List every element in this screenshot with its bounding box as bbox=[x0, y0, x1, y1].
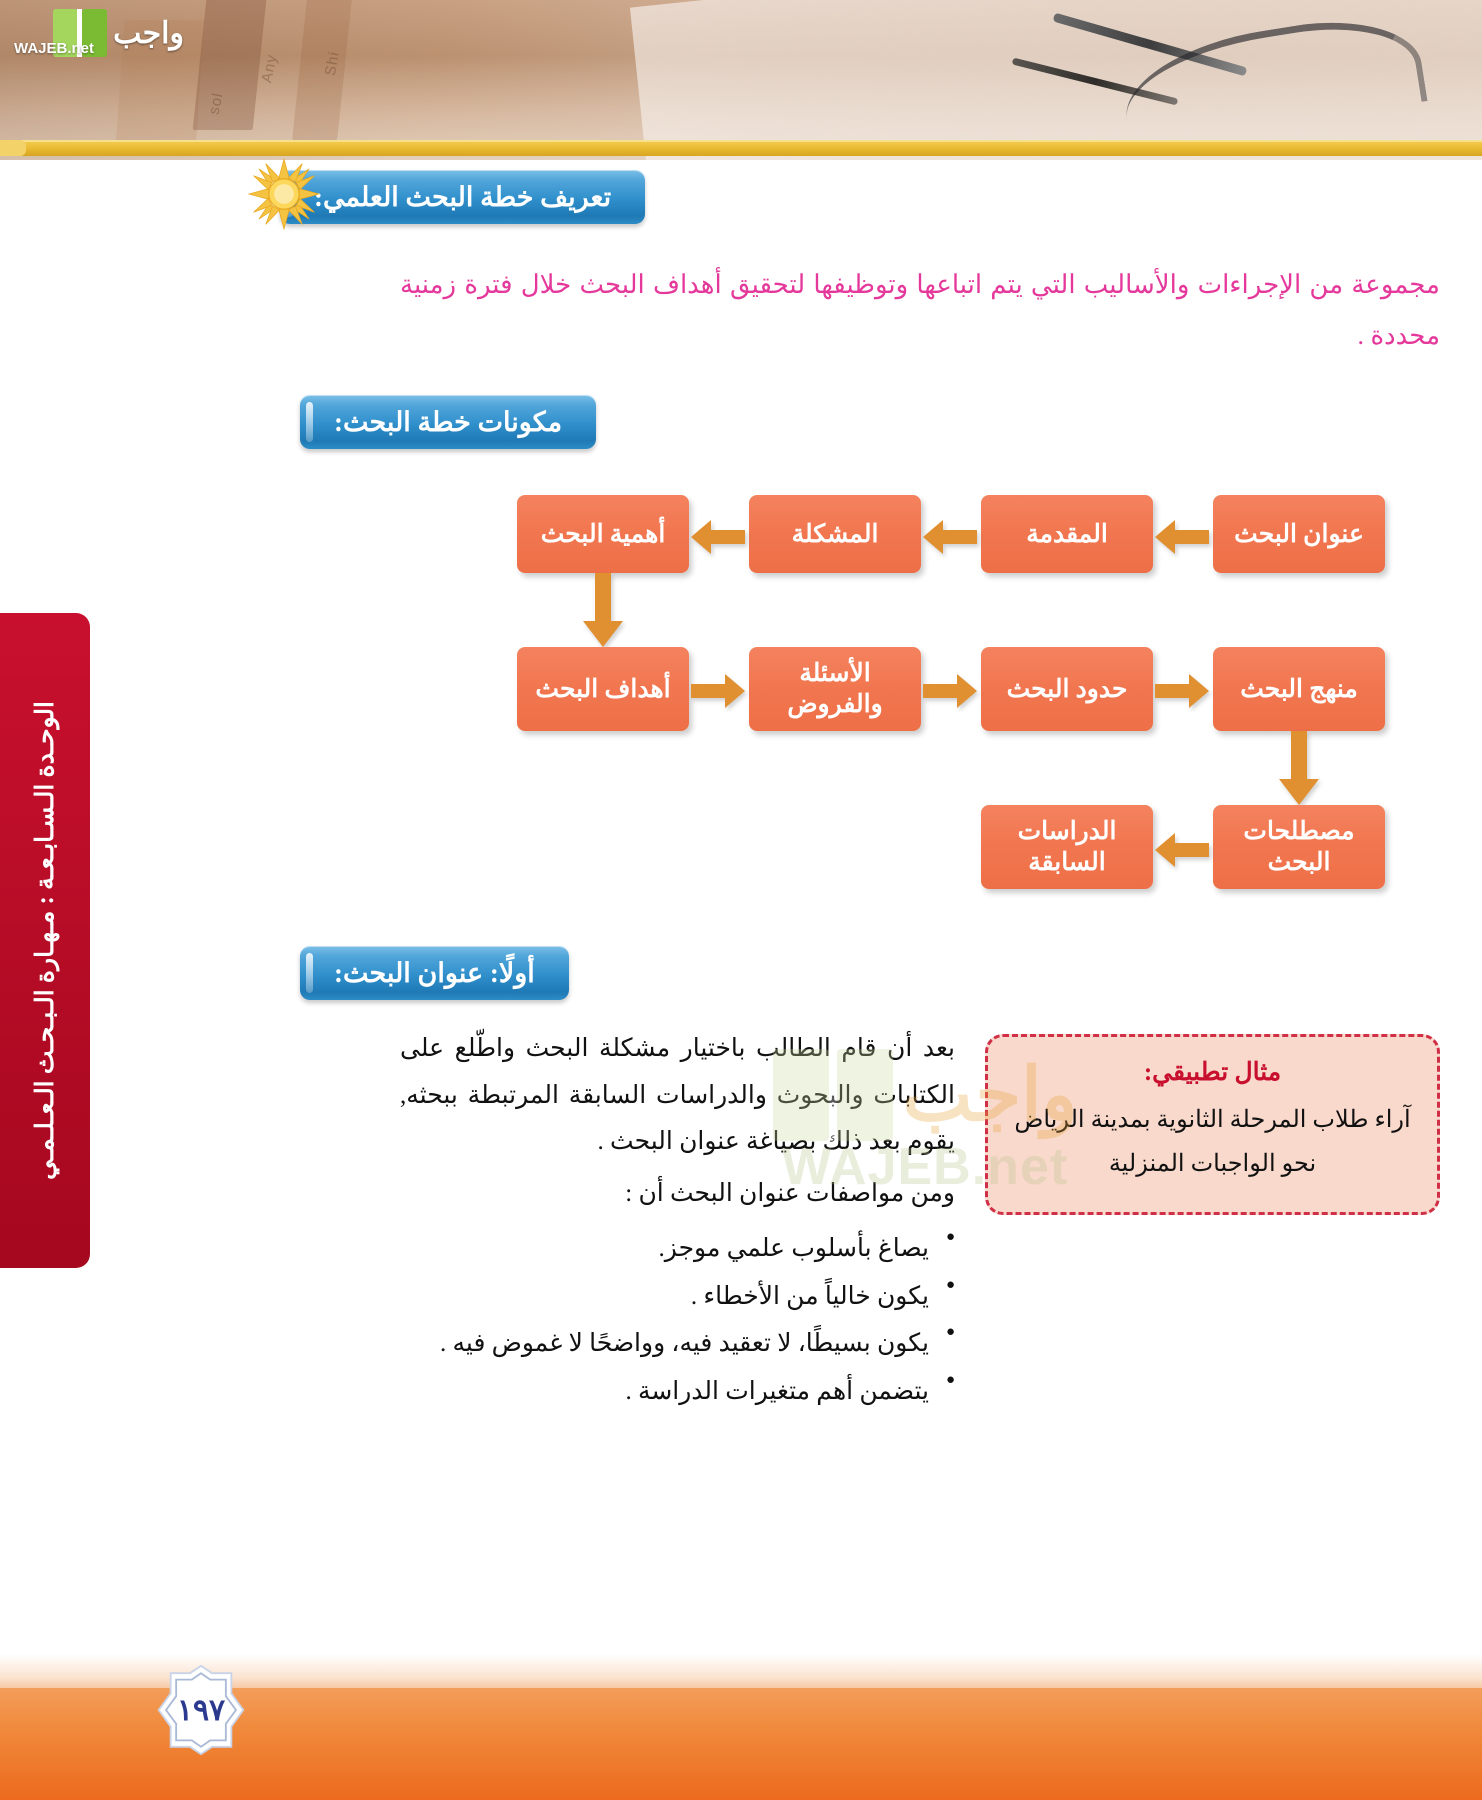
example-box-title: مثال تطبيقي: bbox=[1012, 1057, 1413, 1087]
flow-node-previous-studies: الدراسات السابقة bbox=[981, 805, 1153, 889]
flow-node-introduction: المقدمة bbox=[981, 495, 1153, 573]
page-content: تعريف خطة البحث العلمي: bbox=[110, 170, 1440, 1415]
flow-node-objectives: أهداف البحث bbox=[517, 647, 689, 731]
body-text-column: بعد أن قام الطالب باختيار مشكلة البحث وا… bbox=[400, 1026, 955, 1415]
list-item: يصاغ بأسلوب علمي موجز. bbox=[400, 1225, 955, 1273]
unit-side-tab: الوحـدة الـسـابـعـة : مـهـارة الـبـحـث ا… bbox=[0, 613, 90, 1268]
heading-first-topic: أولًا: عنوان البحث: bbox=[300, 946, 569, 1000]
body-paragraph-1: بعد أن قام الطالب باختيار مشكلة البحث وا… bbox=[400, 1026, 955, 1165]
example-box-line-2: نحو الواجبات المنزلية bbox=[1012, 1143, 1413, 1186]
gold-divider-cap bbox=[0, 140, 26, 156]
flow-node-questions-hypotheses: الأسئلة والفروض bbox=[749, 647, 921, 731]
flow-arrow-left bbox=[1155, 833, 1209, 867]
logo-word: واجب bbox=[113, 16, 184, 51]
applied-example-box: مثال تطبيقي: آراء طلاب المرحلة الثانوية … bbox=[985, 1034, 1440, 1214]
textbook-page: Any sol Shi واجب WAJEB.net الوحـدة الـسـ… bbox=[0, 0, 1482, 1800]
site-logo: واجب WAJEB.net bbox=[8, 6, 184, 60]
title-criteria-list: يصاغ بأسلوب علمي موجز. يكون خالياً من ال… bbox=[400, 1225, 955, 1415]
flow-node-importance: أهمية البحث bbox=[517, 495, 689, 573]
heading-components: مكونات خطة البحث: bbox=[300, 395, 596, 449]
sun-burst-icon bbox=[246, 156, 322, 232]
flow-node-research-title: عنوان البحث bbox=[1213, 495, 1385, 573]
flow-node-methodology: منهج البحث bbox=[1213, 647, 1385, 731]
heading-row-definition: تعريف خطة البحث العلمي: bbox=[110, 170, 1440, 224]
banner-shape bbox=[193, 0, 268, 130]
gold-divider bbox=[0, 140, 1482, 156]
example-box-line-1: آراء طلاب المرحلة الثانوية بمدينة الرياض bbox=[1012, 1099, 1413, 1142]
list-item: يتضمن أهم متغيرات الدراسة . bbox=[400, 1368, 955, 1416]
flow-arrow-right bbox=[923, 674, 977, 708]
body-paragraph-2: ومن مواصفات عنوان البحث أن : bbox=[400, 1171, 955, 1217]
list-item: يكون خالياً من الأخطاء . bbox=[400, 1273, 955, 1321]
flow-arrow-right bbox=[1155, 674, 1209, 708]
flow-arrow-left bbox=[691, 520, 745, 554]
header-photo-banner: Any sol Shi bbox=[0, 0, 1482, 160]
unit-side-tab-label: الوحـدة الـسـابـعـة : مـهـارة الـبـحـث ا… bbox=[31, 701, 60, 1180]
page-number: ١٩٧ bbox=[155, 1664, 247, 1756]
lower-section: بعد أن قام الطالب باختيار مشكلة البحث وا… bbox=[110, 1026, 1440, 1415]
flow-arrow-down bbox=[581, 573, 625, 647]
flow-node-problem: المشكلة bbox=[749, 495, 921, 573]
heading-row-components: مكونات خطة البحث: bbox=[110, 395, 1440, 449]
list-item: يكون بسيطًا، لا تعقيد فيه، وواضحًا لا غم… bbox=[400, 1320, 955, 1368]
banner-text-decoration: Any bbox=[258, 53, 281, 85]
heading-row-first-topic: أولًا: عنوان البحث: bbox=[110, 946, 1440, 1000]
flow-arrow-left bbox=[1155, 520, 1209, 554]
flow-node-scope: حدود البحث bbox=[981, 647, 1153, 731]
logo-domain: WAJEB.net bbox=[14, 40, 94, 57]
flow-arrow-down bbox=[1277, 731, 1321, 805]
research-plan-flowchart: واجب WAJEB.net عنوان البحث المقدمة المشك… bbox=[385, 477, 1385, 922]
flow-arrow-left bbox=[923, 520, 977, 554]
flow-arrow-right bbox=[691, 674, 745, 708]
intro-paragraph: مجموعة من الإجراءات والأساليب التي يتم ا… bbox=[400, 260, 1440, 361]
heading-definition: تعريف خطة البحث العلمي: bbox=[280, 170, 645, 224]
flow-node-terminology: مصطلحات البحث bbox=[1213, 805, 1385, 889]
